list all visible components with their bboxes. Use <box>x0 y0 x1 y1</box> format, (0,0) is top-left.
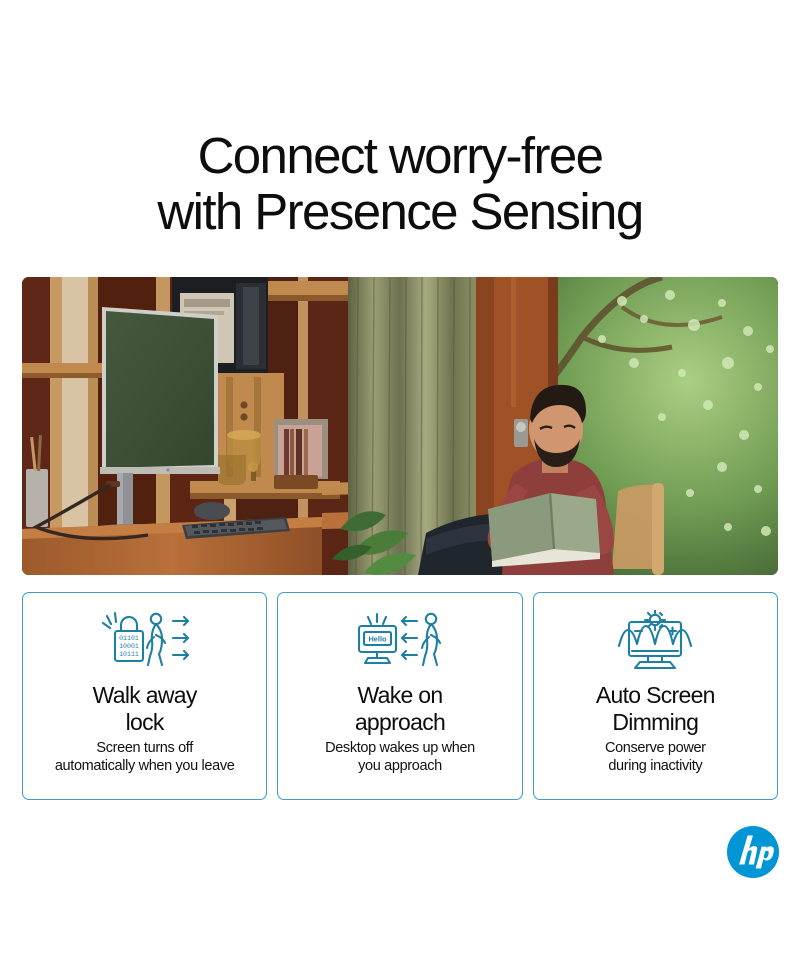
feature-card-wake-on-approach[interactable]: Hello Wake on approach Desktop wakes up … <box>277 592 522 800</box>
hero-illustration <box>22 277 778 575</box>
feature-card-walk-away-lock[interactable]: 01101 10001 10111 Walk away lock Screen <box>22 592 267 800</box>
feature-card-description: Screen turns off automatically when you … <box>51 740 239 775</box>
wake-on-approach-icon: Hello <box>354 606 446 680</box>
monitor-base <box>635 662 675 668</box>
monitor-base <box>365 658 390 663</box>
hero-photo <box>22 277 778 575</box>
sun-glyph <box>650 615 660 625</box>
monitor-screen <box>106 311 214 468</box>
feature-card-title: Walk away lock <box>93 682 197 736</box>
approach-arrows <box>402 617 417 659</box>
monitor-screen-text: Hello <box>368 635 387 644</box>
binary-row-1: 01101 <box>119 635 139 642</box>
walking-person-glyph <box>147 614 165 665</box>
hp-logo-mark <box>727 826 779 878</box>
mouse <box>194 502 230 520</box>
binary-row-2: 10001 <box>119 643 139 650</box>
feature-card-list: 01101 10001 10111 Walk away lock Screen <box>22 592 778 800</box>
feature-card-description: Conserve power during inactivity <box>601 740 710 775</box>
feature-card-auto-screen-dimming[interactable]: Auto Screen Dimming Conserve power durin… <box>533 592 778 800</box>
headline-line-1: Connect worry-free <box>0 128 800 184</box>
hp-logo <box>727 826 779 878</box>
shelf-magazines <box>274 419 328 479</box>
feature-card-description: Desktop wakes up when you approach <box>321 740 479 775</box>
walking-person-glyph <box>422 614 440 665</box>
feature-card-title: Wake on approach <box>355 682 445 736</box>
headline-line-2: with Presence Sensing <box>0 184 800 240</box>
page-title: Connect worry-free with Presence Sensing <box>0 128 800 240</box>
motion-arrows <box>173 617 188 659</box>
auto-screen-dimming-icon <box>615 606 695 680</box>
walk-away-lock-icon: 01101 10001 10111 <box>99 606 191 680</box>
feature-card-title: Auto Screen Dimming <box>596 682 715 736</box>
binary-row-3: 10111 <box>119 651 139 658</box>
